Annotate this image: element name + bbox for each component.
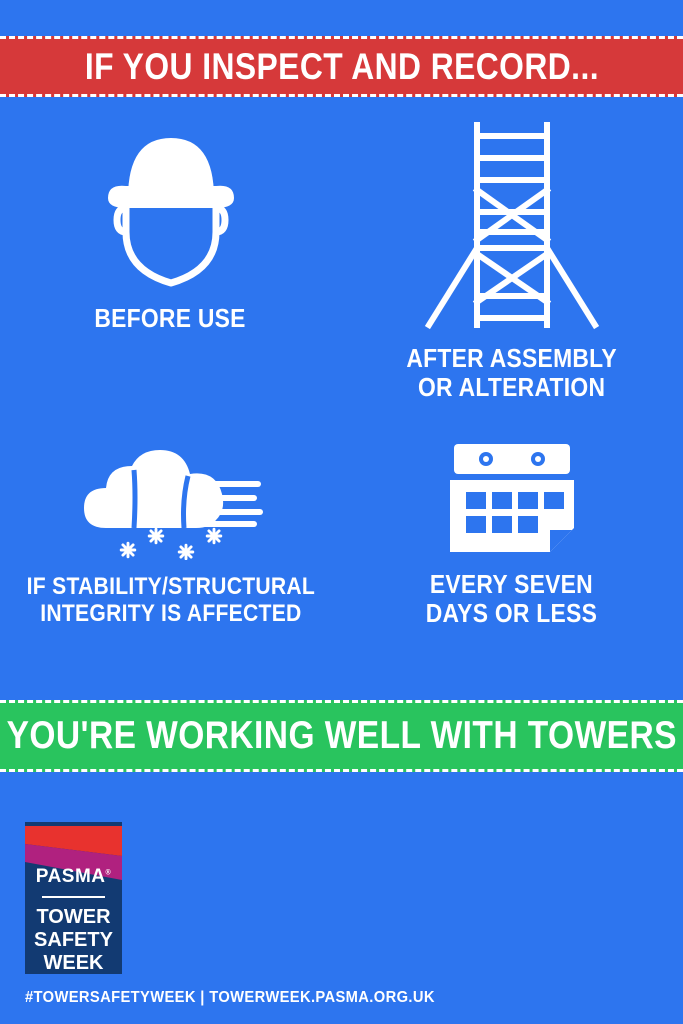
- grid-item-every-seven-days: EVERY SEVEN DAYS OR LESS: [341, 440, 682, 628]
- pasma-letters-sma: SMA: [62, 866, 106, 887]
- caption-line: EVERY SEVEN: [426, 570, 597, 599]
- grid-item-caption: BEFORE USE: [95, 304, 246, 333]
- footer-banner-title: YOU'RE WORKING WELL WITH TOWERS: [6, 714, 676, 758]
- grid-item-caption: EVERY SEVEN DAYS OR LESS: [426, 570, 597, 628]
- logo-tagline: TOWER SAFETY WEEK: [25, 906, 122, 974]
- icon-grid: BEFORE USE: [0, 110, 683, 680]
- pasma-logo: PASMA® TOWER SAFETY WEEK: [25, 822, 122, 974]
- hard-hat-icon: [96, 120, 246, 290]
- header-banner: IF YOU INSPECT AND RECORD...: [0, 36, 683, 97]
- scaffold-tower-icon: [419, 120, 605, 330]
- calendar-icon: [446, 440, 578, 556]
- pasma-letter-a-tower: A: [48, 866, 62, 887]
- grid-item-stability: IF STABILITY/STRUCTURAL INTEGRITY IS AFF…: [0, 440, 341, 628]
- grid-item-after-assembly: AFTER ASSEMBLY OR ALTERATION: [341, 120, 682, 402]
- logo-tagline-line: SAFETY: [25, 929, 122, 952]
- grid-item-before-use: BEFORE USE: [0, 120, 341, 333]
- poster-root: IF YOU INSPECT AND RECORD... BEFO: [0, 0, 683, 1024]
- logo-tagline-line: TOWER: [25, 906, 122, 929]
- footer-banner: YOU'RE WORKING WELL WITH TOWERS: [0, 700, 683, 772]
- caption-line: AFTER ASSEMBLY: [406, 344, 616, 373]
- header-title: IF YOU INSPECT AND RECORD...: [84, 46, 598, 88]
- caption-line: DAYS OR LESS: [426, 599, 597, 628]
- pasma-wordmark: PASMA®: [25, 866, 122, 888]
- caption-line: IF STABILITY/STRUCTURAL: [26, 574, 314, 601]
- pasma-letter-p: P: [36, 866, 48, 887]
- caption-line: INTEGRITY IS AFFECTED: [26, 601, 314, 628]
- grid-item-caption: AFTER ASSEMBLY OR ALTERATION: [406, 344, 616, 402]
- logo-divider: [42, 896, 105, 898]
- logo-tagline-line: WEEK: [25, 952, 122, 974]
- caption-line: OR ALTERATION: [406, 373, 616, 402]
- caption-line: BEFORE USE: [95, 304, 246, 333]
- footer-hashtag-url: #TOWERSAFETYWEEK | TOWERWEEK.PASMA.ORG.U…: [25, 989, 435, 1007]
- registered-mark: ®: [106, 870, 112, 877]
- grid-item-caption: IF STABILITY/STRUCTURAL INTEGRITY IS AFF…: [26, 574, 314, 628]
- cloud-wind-snow-icon: [76, 440, 266, 560]
